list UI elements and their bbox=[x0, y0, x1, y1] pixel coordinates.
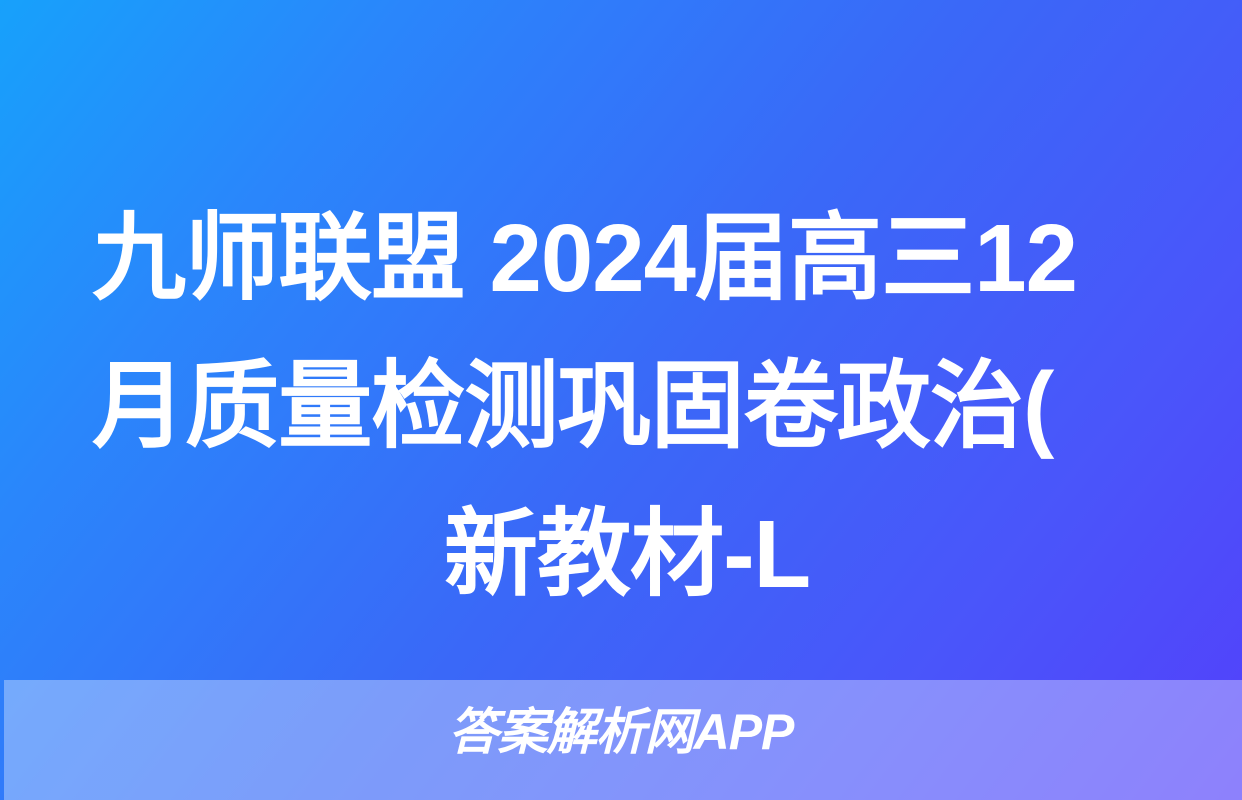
app-watermark-label: 答案解析网APP bbox=[0, 703, 1242, 761]
page-title: 九师联盟 2024届高三12 月质量检测巩固卷政治( 新教材-L bbox=[92, 185, 1162, 629]
title-line-3: 新教材-L bbox=[103, 481, 1152, 629]
exam-cover-card: 九师联盟 2024届高三12 月质量检测巩固卷政治( 新教材-L 答案解析网AP… bbox=[0, 0, 1242, 800]
title-line-2: 月质量检测巩固卷政治( bbox=[92, 333, 1141, 481]
title-line-1: 九师联盟 2024届高三12 bbox=[92, 185, 1141, 333]
